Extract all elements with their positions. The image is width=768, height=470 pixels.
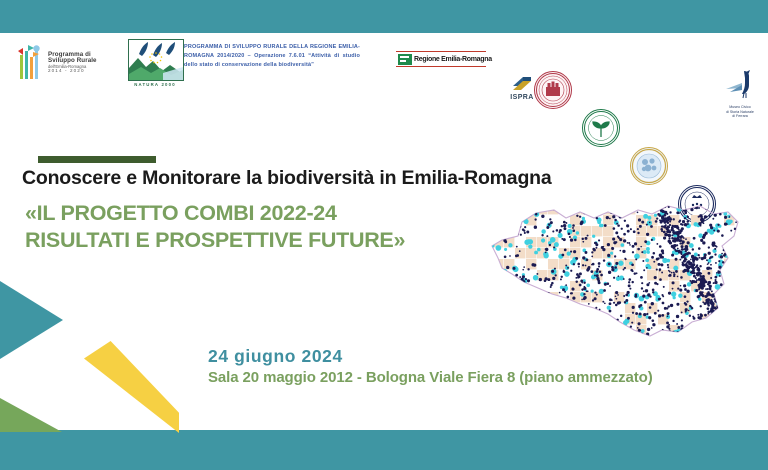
- partner-logo-strip: Programma di Sviluppo Rurale dell'Emilia…: [0, 33, 768, 99]
- page-subtitle: «IL PROGETTO COMBI 2022-24 RISULTATI E P…: [25, 200, 485, 254]
- museo-civico-ferrara-label: Museo Civicodi Storia Naturaledi Ferrara: [718, 105, 762, 119]
- event-date: 24 giugno 2024: [208, 346, 343, 367]
- psr-mark-icon: [18, 45, 44, 81]
- event-venue: Sala 20 maggio 2012 - Bologna Viale Fier…: [208, 369, 653, 386]
- green-triangle-decoration: [0, 376, 62, 432]
- teal-chevron-decoration: [0, 255, 63, 385]
- subtitle-line-2: RISULTATI E PROSPETTIVE FUTURE»: [25, 227, 485, 254]
- programme-description-text: PROGRAMMA DI SVILUPPO RURALE DELLA REGIO…: [184, 43, 360, 70]
- regione-emilia-romagna-label: Regione Emilia-Romagna: [414, 56, 492, 63]
- bottom-band: [0, 430, 768, 470]
- natura-2000-caption: NATURA 2000: [128, 82, 182, 87]
- subtitle-line-1: «IL PROGETTO COMBI 2022-24: [25, 200, 485, 227]
- universita-bologna-seal-icon: [534, 71, 572, 109]
- heron-icon: [720, 69, 760, 99]
- psr-line-4: 2014 - 2020: [48, 69, 97, 74]
- ispra-mark-icon: [511, 73, 533, 93]
- emilia-romagna-dot-map: [462, 196, 758, 348]
- regione-flag-icon: [398, 54, 412, 65]
- yellow-diagonal-decoration: [84, 341, 179, 433]
- top-band: [0, 0, 768, 33]
- natura-2000-emblem-icon: [128, 39, 184, 81]
- poster-canvas: Programma di Sviluppo Rurale dell'Emilia…: [0, 0, 768, 470]
- psr-emilia-romagna-logo: Programma di Sviluppo Rurale dell'Emilia…: [18, 41, 118, 85]
- museo-civico-ferrara-logo: Museo Civicodi Storia Naturaledi Ferrara: [718, 69, 762, 117]
- page-title: Conoscere e Monitorare la biodiversità i…: [22, 167, 642, 190]
- regione-emilia-romagna-logo: Regione Emilia-Romagna: [396, 51, 486, 73]
- title-accent-bar: [38, 156, 156, 163]
- natura-2000-logo: NATURA 2000: [128, 39, 182, 87]
- parchi-biodiversita-seal-icon: [582, 109, 620, 147]
